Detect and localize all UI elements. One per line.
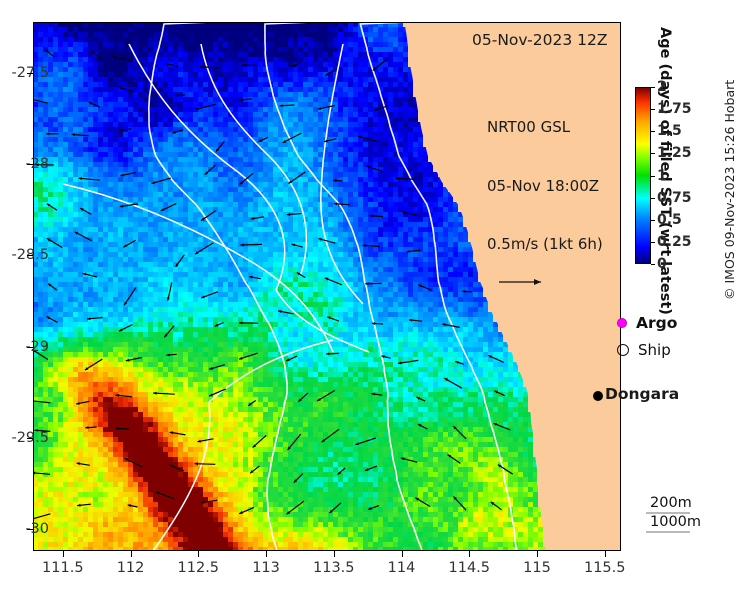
x-tick-mark (334, 551, 335, 557)
colorbar-tick-label: 1.5 (657, 123, 682, 139)
x-tick-mark (266, 551, 267, 557)
depth-swatch-200m (646, 512, 690, 514)
x-tick-label: 113 (252, 560, 280, 576)
colorbar-tick-label: 0.75 (657, 190, 692, 206)
legend-item-ship: Ship (617, 341, 671, 359)
colorbar-tick-label: 2 (657, 79, 667, 95)
vector-key-line1: NRT00 GSL (487, 118, 603, 138)
y-tick-mark (27, 164, 33, 165)
vector-key: NRT00 GSL 05-Nov 18:00Z 0.5m/s (1kt 6h) (487, 79, 603, 296)
colorbar-tick (651, 176, 655, 177)
colorbar-tick (651, 153, 655, 154)
y-tick-mark (27, 438, 33, 439)
colorbar-tick (651, 131, 655, 132)
colorbar-tick-label: 1 (657, 168, 667, 184)
colorbar-tick-label: 0.5 (657, 212, 682, 228)
x-tick-label: 112.5 (178, 560, 220, 576)
x-tick-label: 113.5 (313, 560, 355, 576)
colorbar-tick (651, 242, 655, 243)
colorbar-tick-label: 0 (657, 256, 667, 272)
colorbar-tick-label: 0.25 (657, 234, 692, 250)
colorbar-tick (651, 220, 655, 221)
vector-key-line2: 05-Nov 18:00Z (487, 177, 603, 197)
vector-key-arrow-icon (497, 274, 557, 290)
x-tick-mark (131, 551, 132, 557)
legend-label-ship: Ship (638, 341, 671, 359)
x-tick-mark (402, 551, 403, 557)
y-tick-mark (27, 347, 33, 348)
date-stamp: 05-Nov-2023 12Z (472, 31, 607, 49)
depth-label-1000m: 1000m (650, 513, 701, 532)
colorbar-tick-label: 1.25 (657, 145, 692, 161)
place-label-dongara: Dongara (605, 385, 679, 403)
dongara-marker (593, 391, 603, 401)
colorbar-tick-label: 1.75 (657, 101, 692, 117)
x-tick-label: 115.5 (584, 560, 626, 576)
depth-label-200m: 200m (650, 494, 701, 513)
y-tick-mark (27, 73, 33, 74)
colorbar-tick (651, 264, 655, 265)
x-tick-label: 112 (117, 560, 145, 576)
x-tick-mark (63, 551, 64, 557)
x-tick-mark (537, 551, 538, 557)
legend-item-argo: Argo (617, 314, 677, 332)
x-tick-mark (605, 551, 606, 557)
legend-label-argo: Argo (636, 314, 677, 332)
colorbar-tick (651, 109, 655, 110)
y-tick-mark (27, 255, 33, 256)
ship-marker-icon (617, 344, 629, 356)
argo-marker-icon (617, 318, 627, 328)
y-tick-mark (27, 529, 33, 530)
credit-text: © IMOS 09-Nov-2023 15:26 Hobart (722, 80, 737, 300)
x-tick-label: 114 (388, 560, 416, 576)
colorbar (635, 87, 651, 264)
x-tick-mark (198, 551, 199, 557)
colorbar-tick (651, 198, 655, 199)
x-tick-label: 115 (523, 560, 551, 576)
x-tick-label: 111.5 (42, 560, 84, 576)
vector-key-line3: 0.5m/s (1kt 6h) (487, 235, 603, 255)
colorbar-tick (651, 87, 655, 88)
x-tick-mark (469, 551, 470, 557)
depth-swatch-1000m (646, 531, 690, 533)
x-tick-label: 114.5 (448, 560, 490, 576)
